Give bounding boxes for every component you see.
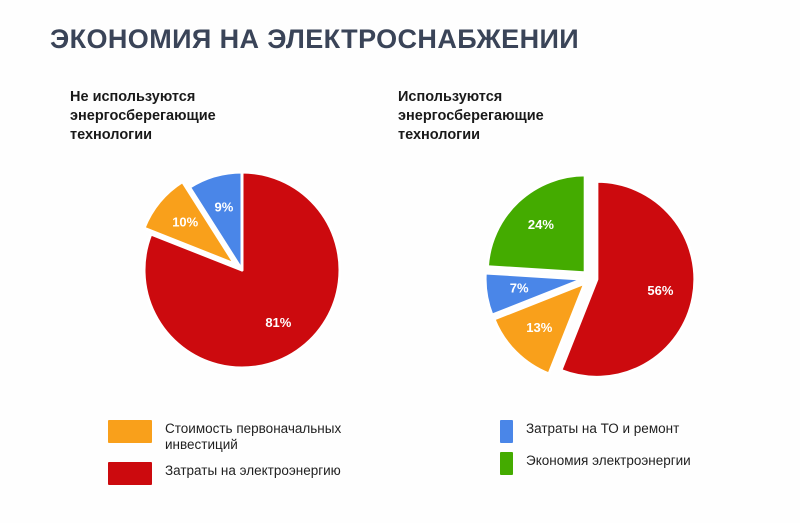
legend-left-column: Стоимость первоначальных инвестиций Затр… xyxy=(108,420,368,485)
page-title: ЭКОНОМИЯ НА ЭЛЕКТРОСНАБЖЕНИИ xyxy=(50,24,579,55)
legend-item: Стоимость первоначальных инвестиций xyxy=(108,420,368,453)
pie-svg-left: 81%10%9% xyxy=(118,158,368,388)
legend-swatch-orange xyxy=(108,420,152,443)
pie-slice-label: 7% xyxy=(510,281,529,296)
pie-slice-label: 10% xyxy=(172,214,198,229)
legend-swatch-red xyxy=(108,462,152,485)
pie-slice-label: 81% xyxy=(265,315,291,330)
slide-canvas: ЭКОНОМИЯ НА ЭЛЕКТРОСНАБЖЕНИИ Не использу… xyxy=(0,0,800,523)
pie-slice-label: 13% xyxy=(526,320,552,335)
panel-subtitle-right: Используются энергосберегающие технологи… xyxy=(398,88,738,145)
pie-slice-label: 9% xyxy=(215,199,234,214)
legend-swatch-blue xyxy=(500,420,513,443)
legend-swatch-green xyxy=(500,452,513,475)
pie-chart-no-energy-saving: 81%10%9% xyxy=(118,158,368,388)
legend-label-maintenance-repair-costs: Затраты на ТО и ремонт xyxy=(526,420,679,437)
pie-svg-right: 56%13%7%24% xyxy=(462,150,717,395)
legend-label-electricity-costs: Затраты на электроэнергию xyxy=(165,462,341,479)
panel-with-energy-saving: Используются энергосберегающие технологи… xyxy=(398,88,738,145)
pie-slice-label: 56% xyxy=(647,283,673,298)
panel-no-energy-saving: Не используются энергосберегающие технол… xyxy=(70,88,400,145)
legend-item: Экономия электроэнергии xyxy=(500,452,780,475)
legend-label-initial-investment-cost: Стоимость первоначальных инвестиций xyxy=(165,420,341,453)
pie-chart-with-energy-saving: 56%13%7%24% xyxy=(462,150,717,395)
legend-right-column: Затраты на ТО и ремонт Экономия электроэ… xyxy=(500,420,780,475)
legend-item: Затраты на ТО и ремонт xyxy=(500,420,780,443)
legend-label-electricity-savings: Экономия электроэнергии xyxy=(526,452,691,469)
legend-item: Затраты на электроэнергию xyxy=(108,462,368,485)
panel-subtitle-left: Не используются энергосберегающие технол… xyxy=(70,88,400,145)
pie-slice-label: 24% xyxy=(528,217,554,232)
